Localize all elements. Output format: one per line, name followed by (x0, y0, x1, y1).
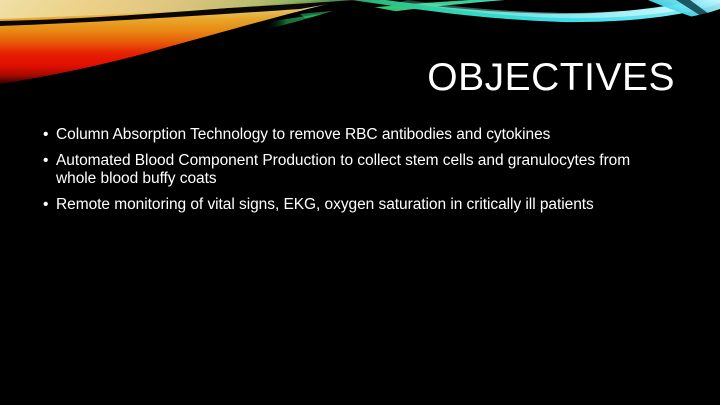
presentation-slide: OBJECTIVES • Column Absorption Technolog… (0, 0, 720, 405)
objectives-bullet-list: • Column Absorption Technology to remove… (38, 126, 668, 214)
bullet-text-2: Automated Blood Component Production to … (56, 152, 668, 189)
bullet-point-icon: • (43, 126, 53, 145)
slide-title: OBJECTIVES (427, 58, 675, 97)
cyan-arc (352, 0, 720, 22)
cyan-highlight (400, 0, 720, 18)
gold-ribbon (0, 0, 355, 19)
bullet-point-icon: • (43, 152, 53, 171)
bullet-item-3: • Remote monitoring of vital signs, EKG,… (38, 196, 668, 215)
bullet-item-2: • Automated Blood Component Production t… (38, 152, 668, 189)
bullet-point-icon: • (43, 196, 53, 215)
right-wedge-separator (676, 0, 720, 28)
bullet-text-1: Column Absorption Technology to remove R… (56, 126, 668, 145)
bullet-text-3: Remote monitoring of vital signs, EKG, o… (56, 196, 668, 215)
green-blade (232, 0, 505, 30)
bullet-item-1: • Column Absorption Technology to remove… (38, 126, 668, 145)
warm-wave-body (0, 0, 345, 84)
green-sliver (300, 0, 498, 18)
dark-streak (0, 0, 352, 26)
right-cyan-wedge (648, 0, 720, 26)
